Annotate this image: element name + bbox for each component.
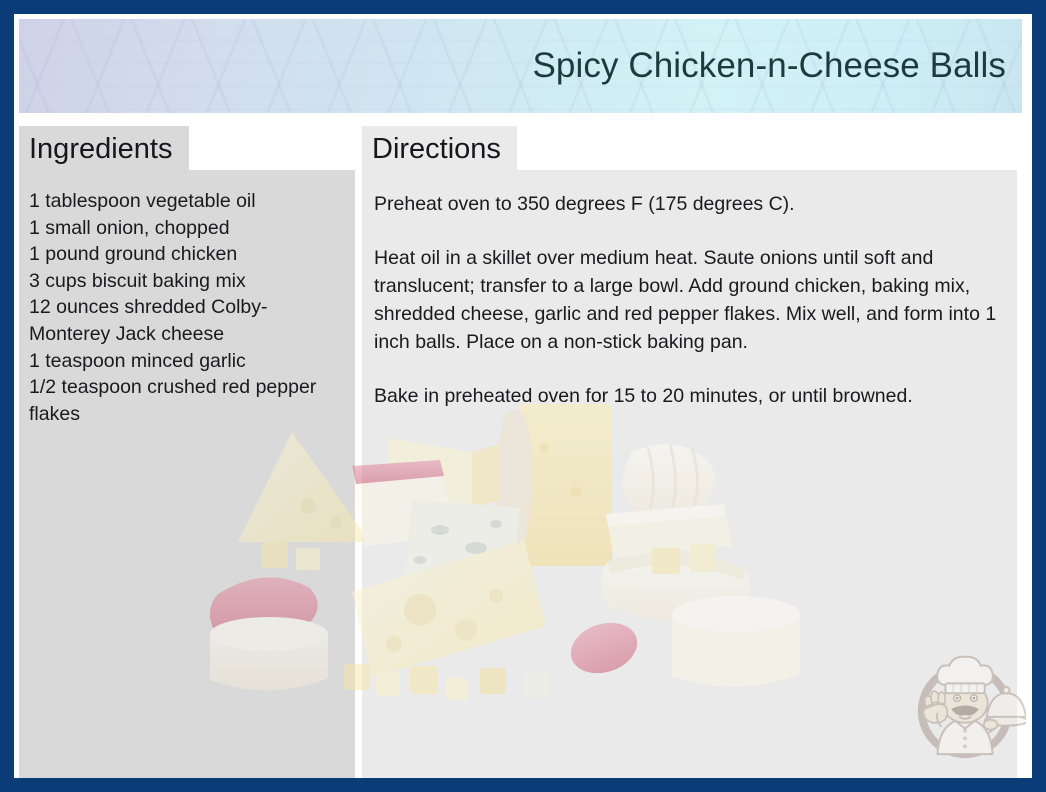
direction-step: Preheat oven to 350 degrees F (175 degre… xyxy=(374,190,1005,218)
ingredients-list: 1 tablespoon vegetable oil 1 small onion… xyxy=(19,170,355,427)
list-item: 1 teaspoon minced garlic xyxy=(29,348,345,375)
list-item: 1 tablespoon vegetable oil xyxy=(29,188,345,215)
directions-column: Directions Preheat oven to 350 degrees F… xyxy=(362,126,1017,778)
header-banner: Spicy Chicken-n-Cheese Balls xyxy=(19,19,1022,113)
direction-step: Heat oil in a skillet over medium heat. … xyxy=(374,244,1005,356)
list-item: 1 pound ground chicken xyxy=(29,241,345,268)
recipe-card: Spicy Chicken-n-Cheese Balls Ingredients… xyxy=(0,0,1046,792)
page-title: Spicy Chicken-n-Cheese Balls xyxy=(532,46,1006,86)
ingredients-heading: Ingredients xyxy=(19,126,189,170)
ingredients-panel: 1 tablespoon vegetable oil 1 small onion… xyxy=(19,170,355,778)
directions-heading: Directions xyxy=(362,126,517,170)
ingredients-column: Ingredients 1 tablespoon vegetable oil 1… xyxy=(19,126,355,778)
card-inner: Spicy Chicken-n-Cheese Balls Ingredients… xyxy=(14,14,1032,778)
directions-panel: Preheat oven to 350 degrees F (175 degre… xyxy=(362,170,1017,778)
directions-text: Preheat oven to 350 degrees F (175 degre… xyxy=(362,170,1017,410)
list-item: 12 ounces shredded Colby-Monterey Jack c… xyxy=(29,294,345,347)
direction-step: Bake in preheated oven for 15 to 20 minu… xyxy=(374,382,1005,410)
list-item: 1/2 teaspoon crushed red pepper flakes xyxy=(29,374,345,427)
list-item: 3 cups biscuit baking mix xyxy=(29,268,345,295)
list-item: 1 small onion, chopped xyxy=(29,215,345,242)
